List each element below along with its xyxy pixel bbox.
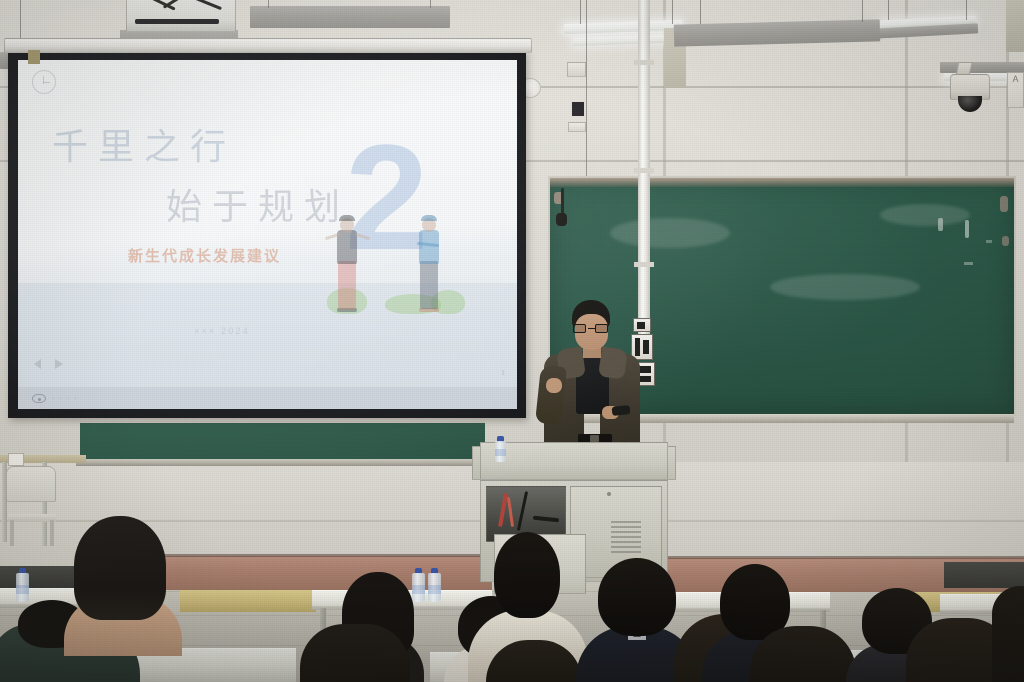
wall-sensor-box xyxy=(570,100,586,118)
seat-shadow xyxy=(944,562,1024,588)
audience-member-2 xyxy=(56,516,182,656)
chalk-ledge-left xyxy=(76,459,489,466)
ceiling-projector xyxy=(126,0,236,32)
wall-sign: A xyxy=(1007,72,1024,108)
slide-header-right: · · · · · xyxy=(464,72,503,78)
presentation-slide: · · · · · 2 xyxy=(18,60,517,409)
classroom-photo: · · · · · 2 xyxy=(0,0,1024,682)
chair-back xyxy=(6,466,56,502)
audience-member-14 xyxy=(992,586,1024,682)
statusbar-text: · · · · xyxy=(52,395,78,402)
bottle-body xyxy=(428,573,441,602)
lamp-wire xyxy=(700,0,701,24)
audience-member-11 xyxy=(750,626,856,682)
coat-collar-right xyxy=(598,346,628,379)
ceiling-lamp-2 xyxy=(250,6,450,28)
slide-subtitle: 新生代成长发展建议 xyxy=(128,245,281,266)
slide-footer: ××× 2024 xyxy=(194,326,250,336)
lamp-wire xyxy=(268,0,269,8)
slide-statusbar: · · · · xyxy=(18,387,517,409)
slide-page-number: 1 xyxy=(501,370,505,377)
chair-seat xyxy=(8,514,56,522)
screen-roller-bracket xyxy=(28,50,40,64)
bottle-body xyxy=(495,441,506,462)
bench-step xyxy=(180,590,316,612)
water-bottle-podium[interactable] xyxy=(495,436,506,462)
screen-roller-housing[interactable] xyxy=(4,38,532,53)
lamp-wire xyxy=(966,0,967,20)
microphone-head xyxy=(556,213,567,226)
ceiling-lamp-5 xyxy=(1006,0,1024,52)
screen-surface: · · · · · 2 xyxy=(18,60,517,409)
lamp-wire xyxy=(672,0,673,24)
slide-playback-controls[interactable] xyxy=(34,359,63,369)
bench-row-far-left xyxy=(156,556,492,590)
projection-screen: · · · · · 2 xyxy=(8,50,526,418)
pipe-bracket xyxy=(634,60,654,65)
gooseneck-microphone xyxy=(561,188,564,216)
pipe-bracket xyxy=(634,168,654,173)
presenter xyxy=(536,300,646,462)
lamp-wire xyxy=(580,0,581,24)
glasses-icon xyxy=(573,324,610,333)
water-bottle-mid-right[interactable] xyxy=(428,568,441,602)
wall-cable xyxy=(586,0,587,180)
hand-left xyxy=(546,378,562,393)
clock-logo-icon xyxy=(32,70,56,94)
belt-buckle xyxy=(590,435,599,442)
bottle-body xyxy=(16,573,29,602)
presentation-clicker[interactable] xyxy=(612,405,631,416)
prev-slide-icon[interactable] xyxy=(34,359,41,369)
wall-plate xyxy=(568,122,586,132)
chalkboard-top-edge xyxy=(550,178,1014,187)
bench-edge xyxy=(652,556,1024,559)
slide-title-line1: 千里之行 xyxy=(52,118,236,170)
chalkboard-left xyxy=(80,421,485,461)
lamp-wire xyxy=(430,0,431,8)
eye-icon xyxy=(32,394,46,403)
illustration-numeral: 2 xyxy=(345,122,428,272)
audience-member-7 xyxy=(486,640,582,682)
wall-switch-plate[interactable] xyxy=(8,453,24,466)
wall-plate xyxy=(567,62,586,77)
pipe-bracket xyxy=(634,262,654,267)
play-slide-icon[interactable] xyxy=(55,359,63,369)
slide-title-line2: 始于规划 xyxy=(166,178,350,230)
audience-member-4 xyxy=(300,624,410,682)
lamp-wire xyxy=(862,0,863,22)
lamp-wire xyxy=(888,0,889,20)
side-chair[interactable] xyxy=(6,466,58,544)
bench-edge xyxy=(156,554,492,557)
lectern-top xyxy=(480,442,668,480)
water-bottle-left-desk[interactable] xyxy=(16,568,29,602)
